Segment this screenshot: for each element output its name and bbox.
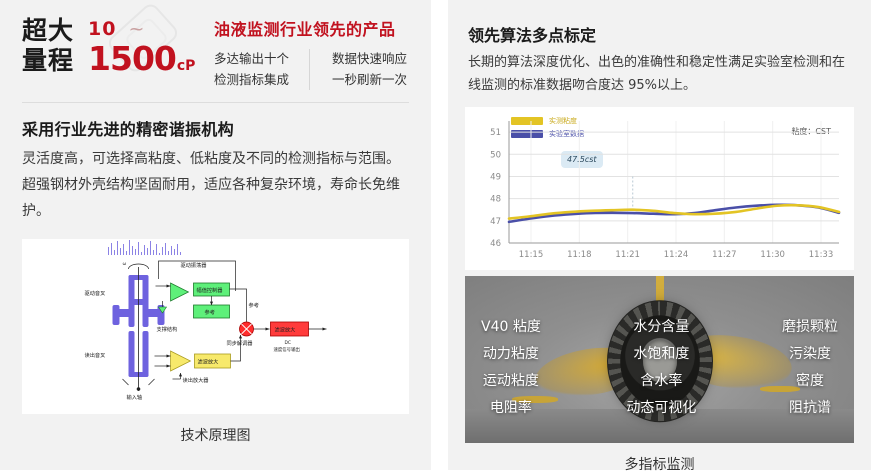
filter-amp-red-label: 滤波放大	[275, 325, 296, 333]
omega-label: ω	[123, 262, 127, 267]
hero-text-block: 油液监测行业领先的产品 多达输出十个 检测指标集成 数据快速响应 一秒刷新一次	[214, 14, 407, 90]
svg-text:11:30: 11:30	[760, 250, 785, 260]
range-badge: 10~ 1500cP	[88, 14, 206, 75]
green-amplifier-icon	[171, 283, 189, 301]
reference-mark-label: 参考	[249, 301, 259, 309]
range-to-row: 1500cP	[88, 42, 206, 75]
svg-text:11:21: 11:21	[615, 250, 640, 260]
dc-output-line2: 速度信号输出	[274, 346, 300, 353]
hero-feature-1-line2: 检测指标集成	[214, 70, 289, 91]
range-from-row: 10~	[88, 18, 206, 40]
svg-text:11:15: 11:15	[519, 250, 544, 260]
photo-label-groups: V40 粘度 动力粘度 运动粘度 电阻率 水分含量 水饱和度 含水率 动态可视化…	[465, 276, 854, 443]
chart-x-axis-ticks: 11:1511:1811:2111:2411:2711:3011:33	[519, 250, 834, 260]
svg-text:50: 50	[490, 150, 501, 160]
hero-feature-2-line2: 一秒刷新一次	[332, 70, 407, 91]
tech-diagram-figure: ω 驱动音叉 读出音叉 输入轴 支撑结构 驱动振荡器 幅值控制器 参考	[22, 239, 409, 414]
photo-label-column-1: V40 粘度 动力粘度 运动粘度 电阻率	[481, 316, 541, 443]
photo-label-2-2: 水饱和度	[633, 343, 689, 363]
multi-index-photo: V40 粘度 动力粘度 运动粘度 电阻率 水分含量 水饱和度 含水率 动态可视化…	[465, 276, 854, 443]
svg-text:49: 49	[490, 172, 501, 182]
svg-text:51: 51	[490, 128, 501, 138]
svg-text:11:18: 11:18	[567, 250, 592, 260]
range-unit: cP	[177, 58, 196, 74]
photo-caption: 多指标监测	[448, 454, 871, 474]
hero-feature-2: 数据快速响应 一秒刷新一次	[309, 49, 407, 90]
photo-label-2-3: 含水率	[640, 370, 682, 390]
svg-text:47: 47	[490, 216, 501, 226]
hero-feature-columns: 多达输出十个 检测指标集成 数据快速响应 一秒刷新一次	[214, 49, 407, 90]
photo-label-2-1: 水分含量	[633, 316, 689, 336]
photo-label-1-2: 动力粘度	[483, 343, 539, 363]
support-label: 支撑结构	[157, 325, 178, 333]
range-from-value: 10	[88, 18, 116, 40]
right-title: 领先算法多点标定	[468, 22, 851, 46]
chart-y-axis-ticks: 464748495051	[490, 128, 501, 249]
svg-text:48: 48	[490, 194, 501, 204]
photo-label-3-1: 磨损颗粒	[782, 316, 838, 336]
drive-oscillator-label: 驱动振荡器	[181, 261, 208, 269]
hero-divider	[22, 102, 409, 103]
hero-kicker: 超大 量程	[22, 14, 74, 75]
svg-text:46: 46	[490, 239, 501, 249]
photo-label-column-2: 水分含量 水饱和度 含水率 动态可视化	[626, 316, 696, 443]
hero-feature-1-line1: 多达输出十个	[214, 49, 289, 70]
left-panel: 超大 量程 10~ 1500cP 油液监测行业领先的产品 多达输出十个 检测指标…	[0, 0, 431, 470]
amplitude-controller-label: 幅值控制器	[197, 286, 224, 294]
drive-fork-label: 驱动音叉	[85, 289, 106, 297]
svg-text:11:24: 11:24	[664, 250, 689, 260]
tech-diagram-svg: ω 驱动音叉 读出音叉 输入轴 支撑结构 驱动振荡器 幅值控制器 参考	[22, 239, 409, 414]
sync-demodulator-label: 同步解调器	[227, 339, 254, 347]
section-body: 灵活度高，可选择高粘度、低粘度及不同的检测指标与范围。超强钢材外壳结构坚固耐用，…	[22, 147, 409, 225]
readout-fork-label: 读出音叉	[85, 351, 106, 359]
waveform-icon	[109, 240, 181, 255]
yellow-amplifier-icon	[171, 351, 191, 371]
range-tilde: ~	[128, 18, 145, 40]
viscosity-chart: 实测粘度 实验室数据 粘度：CST 47.5cst 464748495051 1…	[465, 107, 854, 270]
photo-label-3-3: 密度	[796, 370, 824, 390]
page-root: 超大 量程 10~ 1500cP 油液监测行业领先的产品 多达输出十个 检测指标…	[0, 0, 871, 470]
photo-label-2-4: 动态可视化	[626, 397, 696, 417]
chart-series-measured	[509, 205, 839, 218]
svg-text:11:33: 11:33	[809, 250, 834, 260]
input-shaft-dot	[137, 387, 141, 391]
hero-feature-1: 多达输出十个 检测指标集成	[214, 49, 289, 90]
range-to-value: 1500	[88, 39, 176, 78]
right-body: 长期的算法深度优化、出色的准确性和稳定性满足实验室检测和在线监测的标准数据吻合度…	[468, 52, 851, 98]
readout-amp-label: 读出放大器	[183, 376, 210, 384]
photo-label-1-4: 电阻率	[490, 397, 532, 417]
chart-svg: 464748495051 11:1511:1811:2111:2411:2711…	[465, 107, 854, 270]
hero-headline: 油液监测行业领先的产品	[214, 16, 407, 40]
figure-caption: 技术原理图	[0, 425, 431, 445]
panel-gap	[431, 0, 448, 470]
right-panel: 领先算法多点标定 长期的算法深度优化、出色的准确性和稳定性满足实验室检测和在线监…	[448, 0, 871, 470]
photo-label-3-2: 污染度	[789, 343, 831, 363]
hero-feature-2-line1: 数据快速响应	[332, 49, 407, 70]
reference-box-label: 参考	[205, 308, 215, 316]
photo-label-column-3: 磨损颗粒 污染度 密度 阻抗谱	[782, 316, 838, 443]
photo-label-3-4: 阻抗谱	[789, 397, 831, 417]
dc-output-line1: DC	[285, 340, 291, 346]
photo-label-1-3: 运动粘度	[483, 370, 539, 390]
hero-block: 超大 量程 10~ 1500cP 油液监测行业领先的产品 多达输出十个 检测指标…	[0, 0, 431, 90]
filter-amp-yellow-label: 滤波放大	[198, 357, 219, 365]
input-shaft-label: 输入轴	[127, 393, 143, 401]
chart-gridlines	[509, 121, 839, 243]
svg-text:11:27: 11:27	[712, 250, 737, 260]
photo-label-1-1: V40 粘度	[481, 316, 541, 336]
section-title: 采用行业先进的精密谐振机构	[22, 116, 409, 140]
